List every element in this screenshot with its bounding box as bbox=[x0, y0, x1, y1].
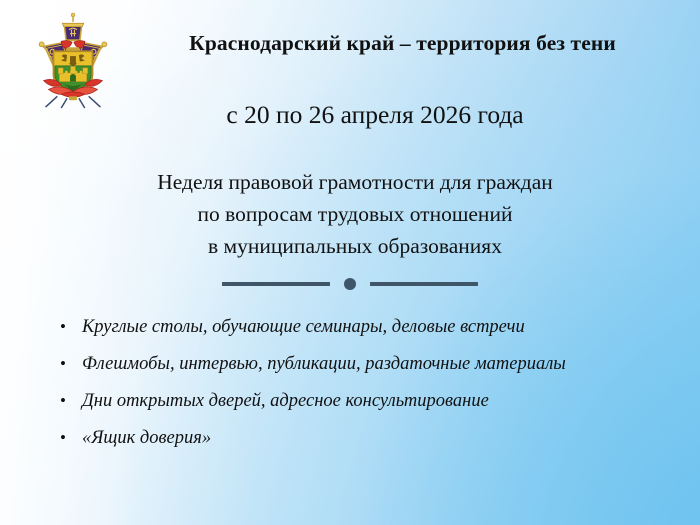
list-item: • Круглые столы, обучающие семинары, дел… bbox=[60, 308, 680, 345]
slide-title: Краснодарский край – территория без тени bbox=[130, 31, 675, 57]
list-item: • Флешмобы, интервью, публикации, раздат… bbox=[60, 345, 680, 382]
list-item-label: Дни открытых дверей, адресное консультир… bbox=[82, 383, 489, 420]
coat-of-arms-icon bbox=[24, 12, 122, 110]
slide-content: Краснодарский край – территория без тени… bbox=[0, 0, 700, 525]
subtitle-line-3: в муниципальных образованиях bbox=[60, 230, 650, 262]
list-item-label: «Ящик доверия» bbox=[82, 420, 211, 457]
bullet-marker-icon: • bbox=[60, 345, 82, 382]
bullet-marker-icon: • bbox=[60, 308, 82, 345]
divider-dot bbox=[344, 278, 356, 290]
divider-bar-left bbox=[222, 282, 330, 286]
subtitle-line-1: Неделя правовой грамотности для граждан bbox=[60, 166, 650, 198]
list-item-label: Круглые столы, обучающие семинары, делов… bbox=[82, 309, 525, 346]
bullet-marker-icon: • bbox=[60, 419, 82, 456]
divider-bar-right bbox=[370, 282, 478, 286]
list-item: • «Ящик доверия» bbox=[60, 419, 680, 456]
slide-subtitle: Неделя правовой грамотности для граждан … bbox=[60, 166, 650, 262]
subtitle-line-2: по вопросам трудовых отношений bbox=[60, 198, 650, 230]
list-item: • Дни открытых дверей, адресное консульт… bbox=[60, 382, 680, 419]
activity-bullet-list: • Круглые столы, обучающие семинары, дел… bbox=[60, 308, 680, 456]
presentation-slide: Краснодарский край – территория без тени… bbox=[0, 0, 700, 525]
dot-divider-icon bbox=[222, 277, 478, 291]
bullet-marker-icon: • bbox=[60, 382, 82, 419]
slide-dateline: с 20 по 26 апреля 2026 года bbox=[110, 100, 640, 131]
list-item-label: Флешмобы, интервью, публикации, раздаточ… bbox=[82, 346, 566, 383]
